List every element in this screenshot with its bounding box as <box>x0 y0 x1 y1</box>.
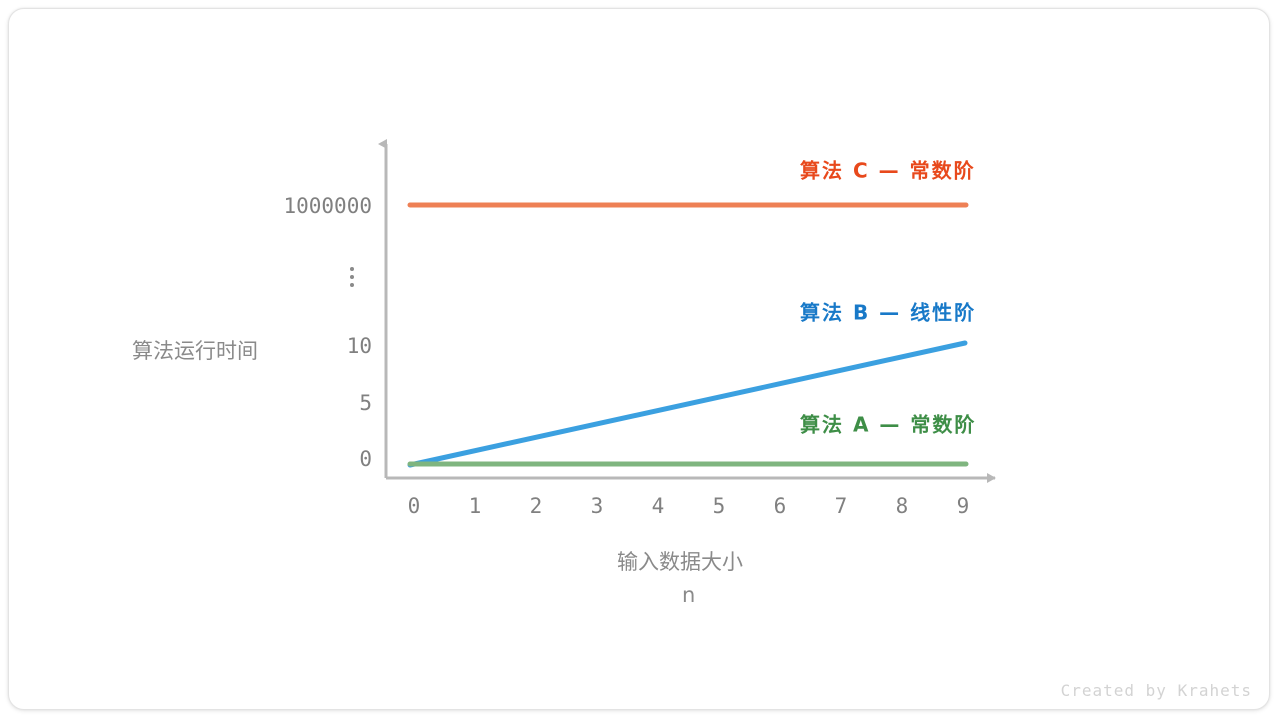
series-label-c: 算法 C — 常数阶 <box>800 155 976 184</box>
chart-canvas: 1000000 10 5 0 0 1 2 3 4 5 6 7 8 9 算法运行时… <box>0 0 1280 720</box>
series-label-a: 算法 A — 常数阶 <box>800 409 976 438</box>
x-tick-label-9: 9 <box>957 494 970 518</box>
x-tick-label-0: 0 <box>408 494 421 518</box>
x-tick-label-8: 8 <box>896 494 909 518</box>
series-label-b: 算法 B — 线性阶 <box>800 297 976 326</box>
x-tick-label-2: 2 <box>530 494 543 518</box>
series-line-b <box>410 343 965 465</box>
y-axis-break-dots <box>350 263 354 291</box>
x-tick-label-4: 4 <box>652 494 665 518</box>
y-axis-title: 算法运行时间 <box>132 335 258 365</box>
x-axis-title: 输入数据大小 <box>617 546 743 576</box>
x-tick-label-7: 7 <box>835 494 848 518</box>
y-tick-label-10: 10 <box>347 334 372 358</box>
x-tick-label-6: 6 <box>774 494 787 518</box>
x-tick-label-3: 3 <box>591 494 604 518</box>
y-tick-label-0: 0 <box>359 447 372 471</box>
watermark-credit: Created by Krahets <box>1061 681 1252 700</box>
y-tick-label-1000000: 1000000 <box>283 194 372 218</box>
x-tick-label-1: 1 <box>469 494 482 518</box>
x-axis-title-variable: n <box>682 583 695 607</box>
x-tick-label-5: 5 <box>713 494 726 518</box>
y-tick-label-5: 5 <box>359 391 372 415</box>
